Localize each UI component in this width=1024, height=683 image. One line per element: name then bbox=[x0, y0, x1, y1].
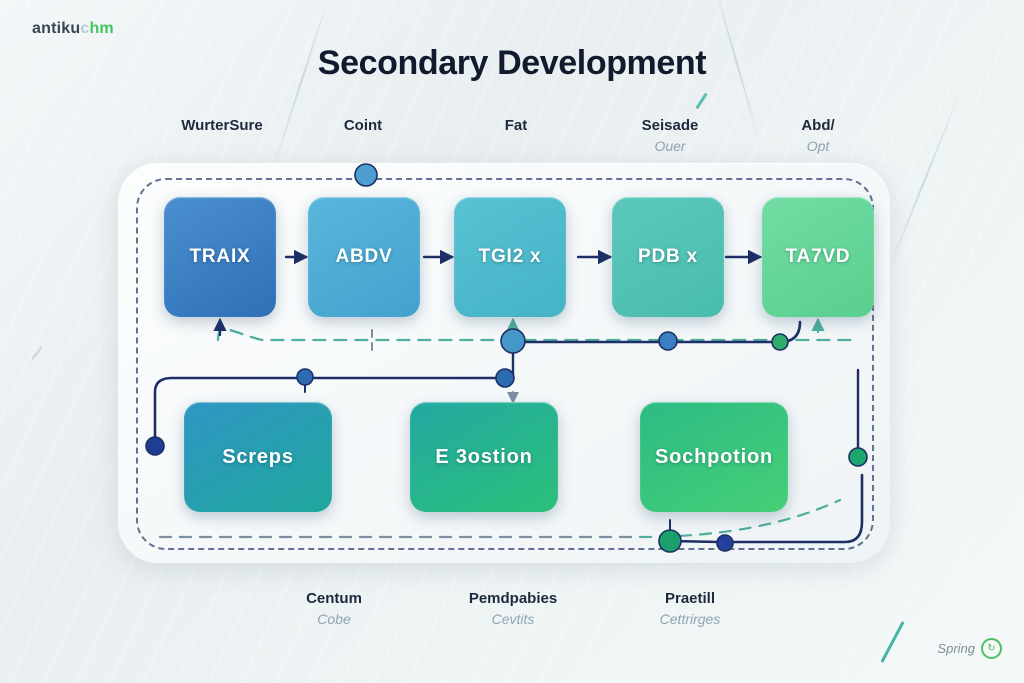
bottom-label-2: PraetillCettrirges bbox=[660, 590, 721, 627]
bottom-label-row: CentumCobePemdpabiesCevtitsPraetillCettr… bbox=[0, 590, 1024, 650]
watermark-top-left: antikuchm bbox=[32, 20, 114, 38]
bottom-label-sub: Cettrirges bbox=[660, 611, 721, 627]
card-label: Sochpotion bbox=[655, 446, 773, 469]
top-label-2: Fat bbox=[505, 117, 528, 134]
top-label-main: Abd/ bbox=[801, 117, 834, 134]
decor-teal-tick bbox=[695, 93, 707, 110]
card-label: TA7VD bbox=[786, 246, 851, 268]
card-label: TRAIX bbox=[190, 246, 251, 268]
top-label-1: Coint bbox=[344, 117, 382, 134]
row1-card-4[interactable]: TA7VD bbox=[762, 197, 874, 317]
row2-card-0[interactable]: Screps bbox=[184, 402, 332, 512]
bottom-label-main: Centum bbox=[306, 590, 362, 607]
watermark-spring-label: Spring bbox=[937, 641, 975, 656]
row2-card-2[interactable]: Sochpotion bbox=[640, 402, 788, 512]
card-label: PDB x bbox=[638, 246, 698, 268]
top-label-main: WurterSure bbox=[181, 117, 262, 134]
watermark-bottom-right: Spring ↻ bbox=[937, 638, 1002, 659]
row2-card-1[interactable]: E 3ostion bbox=[410, 402, 558, 512]
row1-card-1[interactable]: ABDV bbox=[308, 197, 420, 317]
top-label-main: Seisade bbox=[642, 117, 699, 134]
row1-card-2[interactable]: TGI2 x bbox=[454, 197, 566, 317]
card-label: E 3ostion bbox=[435, 446, 532, 469]
diagram-canvas: antikuchm Secondary Development WurterSu… bbox=[0, 0, 1024, 683]
spring-leaf-icon: ↻ bbox=[981, 638, 1002, 659]
decor-grey-tick bbox=[31, 346, 42, 360]
bottom-label-sub: Cobe bbox=[306, 611, 362, 627]
bottom-label-sub: Cevtits bbox=[469, 611, 557, 627]
top-label-4: Abd/Opt bbox=[801, 117, 834, 154]
top-label-3: SeisadeOuer bbox=[642, 117, 699, 154]
watermark-part-c: hm bbox=[89, 20, 113, 37]
bottom-label-main: Praetill bbox=[660, 590, 721, 607]
row1-card-3[interactable]: PDB x bbox=[612, 197, 724, 317]
top-label-row: WurterSureCointFatSeisadeOuerAbd/Opt bbox=[0, 117, 1024, 169]
top-label-main: Fat bbox=[505, 117, 528, 134]
top-label-0: WurterSure bbox=[181, 117, 262, 134]
card-label: TGI2 x bbox=[479, 246, 542, 268]
card-label: Screps bbox=[222, 446, 294, 469]
row1-card-0[interactable]: TRAIX bbox=[164, 197, 276, 317]
card-label: ABDV bbox=[335, 246, 392, 268]
top-label-main: Coint bbox=[344, 117, 382, 134]
watermark-part-a: antiku bbox=[32, 20, 80, 37]
bottom-label-0: CentumCobe bbox=[306, 590, 362, 627]
bottom-label-main: Pemdpabies bbox=[469, 590, 557, 607]
page-title: Secondary Development bbox=[0, 44, 1024, 83]
bottom-label-1: PemdpabiesCevtits bbox=[469, 590, 557, 627]
top-label-sub: Opt bbox=[801, 138, 834, 154]
top-label-sub: Ouer bbox=[642, 138, 699, 154]
